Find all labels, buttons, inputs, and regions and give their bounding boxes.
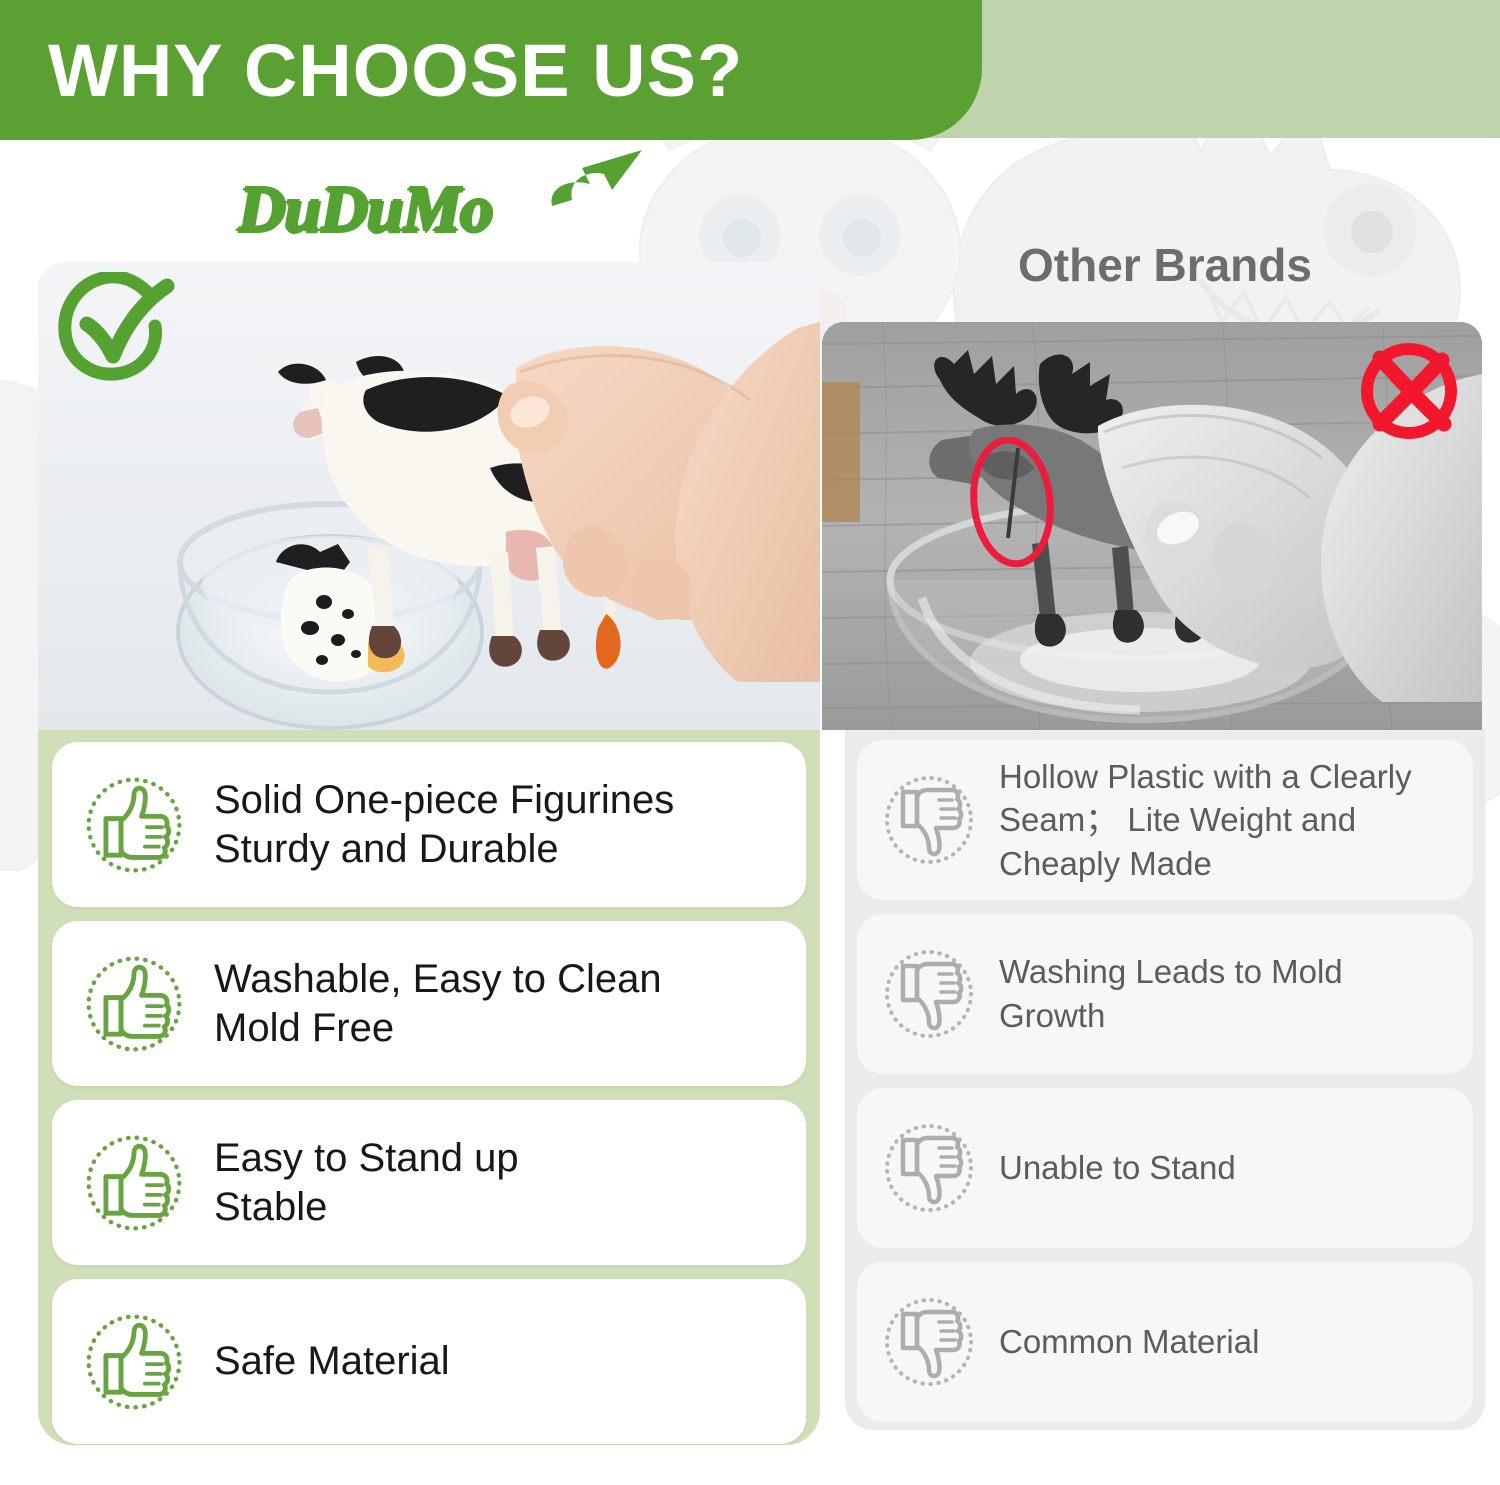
pro-card: Washable, Easy to Clean Mold Free xyxy=(52,921,806,1086)
pro-card: Easy to Stand up Stable xyxy=(52,1100,806,1265)
con-card: Common Material xyxy=(857,1262,1473,1422)
con-card: Hollow Plastic with a Clearly Seam； Lite… xyxy=(857,740,1473,900)
pro-text: Safe Material xyxy=(214,1337,450,1386)
thumbs-up-icon xyxy=(80,771,188,879)
brand-logo: DuDuMo xyxy=(238,150,658,255)
pro-text: Easy to Stand up Stable xyxy=(214,1134,519,1232)
thumbs-up-icon xyxy=(80,1308,188,1416)
header-banner: WHY CHOOSE US? xyxy=(0,0,982,140)
con-text: Unable to Stand xyxy=(999,1146,1236,1190)
thumbs-down-icon xyxy=(879,944,979,1044)
other-brands-heading: Other Brands xyxy=(845,238,1485,292)
thumbs-down-icon xyxy=(879,1292,979,1392)
cons-panel: Hollow Plastic with a Clearly Seam； Lite… xyxy=(845,730,1485,1430)
con-text: Washing Leads to Mold Growth xyxy=(999,950,1343,1037)
pros-panel: Solid One-piece Figurines Sturdy and Dur… xyxy=(38,730,820,1445)
thumbs-down-icon xyxy=(879,770,979,870)
paper-plane-arrow-icon xyxy=(538,144,658,224)
thumbs-up-icon xyxy=(80,950,188,1058)
check-circle-icon xyxy=(55,272,179,384)
thumbs-down-icon xyxy=(879,1118,979,1218)
pro-card: Safe Material xyxy=(52,1279,806,1444)
infographic-page: WHY CHOOSE US? DuDuMo Other Brands xyxy=(0,0,1500,1485)
con-card: Unable to Stand xyxy=(857,1088,1473,1248)
brand-logo-text: DuDuMo xyxy=(238,172,492,248)
pro-text: Solid One-piece Figurines Sturdy and Dur… xyxy=(214,776,674,874)
thumbs-up-icon xyxy=(80,1129,188,1237)
con-card: Washing Leads to Mold Growth xyxy=(857,914,1473,1074)
cross-circle-icon xyxy=(1356,338,1462,444)
page-title: WHY CHOOSE US? xyxy=(48,28,743,113)
pro-text: Washable, Easy to Clean Mold Free xyxy=(214,955,662,1053)
con-text: Hollow Plastic with a Clearly Seam； Lite… xyxy=(999,755,1412,886)
pro-card: Solid One-piece Figurines Sturdy and Dur… xyxy=(52,742,806,907)
con-text: Common Material xyxy=(999,1320,1259,1364)
